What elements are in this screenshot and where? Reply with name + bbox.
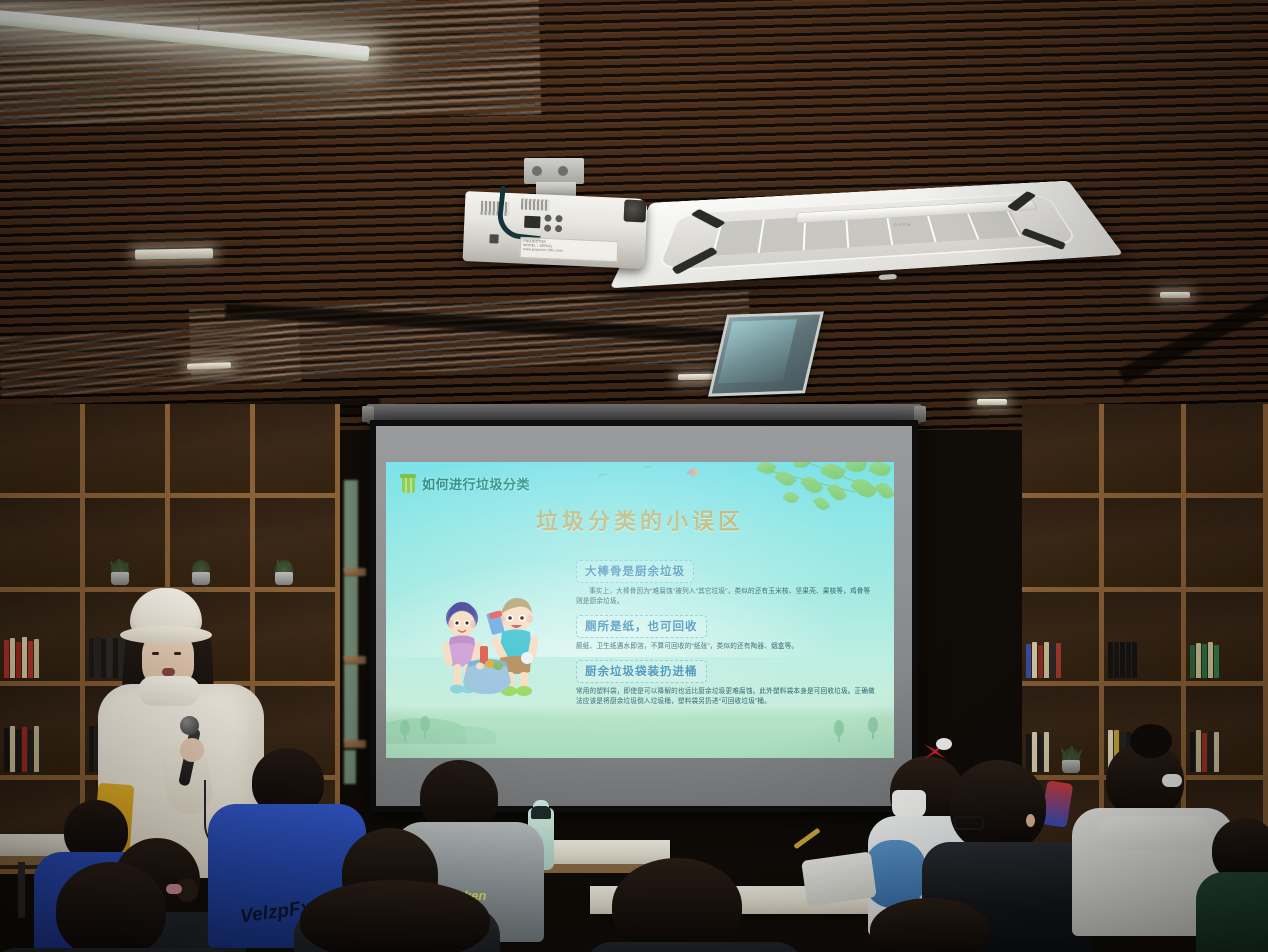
bottle-cap bbox=[531, 806, 551, 819]
leaf bbox=[868, 462, 892, 480]
book bbox=[1196, 643, 1201, 678]
jacket bbox=[584, 942, 804, 952]
projector-button bbox=[489, 234, 498, 243]
potted-plant bbox=[190, 559, 212, 585]
plant-pot bbox=[275, 572, 293, 585]
shelf-cell bbox=[1186, 404, 1268, 498]
projector-light-spill bbox=[344, 480, 358, 572]
jacket bbox=[1196, 872, 1268, 952]
block-body: 常用的塑料袋，即使是可以降解的也远比厨余垃圾更难腐蚀。此外塑料袋本身是可回收垃圾… bbox=[576, 687, 876, 707]
book bbox=[1032, 642, 1037, 678]
leaf bbox=[793, 462, 811, 469]
block-body: 厕纸、卫生纸遇水即溶，不算可回收的“纸张”，类似的还有陶器、烟盒等。 bbox=[576, 642, 876, 652]
eye bbox=[174, 652, 181, 655]
notebook[interactable] bbox=[801, 851, 877, 906]
glasses bbox=[954, 816, 984, 830]
projector-label: PROJECTOR MODEL / SERIAL www.projector-i… bbox=[520, 237, 619, 262]
hand bbox=[180, 738, 204, 762]
book bbox=[22, 727, 27, 772]
leaf bbox=[820, 462, 847, 483]
tree-trunk bbox=[404, 734, 406, 742]
projector-ceiling-mount bbox=[524, 158, 584, 184]
book bbox=[1044, 642, 1049, 678]
tree bbox=[834, 720, 844, 742]
book bbox=[10, 726, 15, 772]
plant-pot bbox=[111, 572, 129, 585]
leaf bbox=[800, 473, 824, 497]
book bbox=[1190, 732, 1195, 772]
hat-brim bbox=[120, 626, 212, 644]
slide-block: 大棒骨是厨余垃圾 事实上，大棒骨因为“难腐蚀”被列入“其它垃圾”，类似的还有玉米… bbox=[576, 560, 876, 607]
plant-pot bbox=[1062, 760, 1080, 773]
book bbox=[22, 637, 27, 678]
shelf-cell bbox=[0, 498, 85, 592]
projector-light-spill bbox=[344, 576, 358, 660]
coat-collar bbox=[138, 676, 200, 706]
book bbox=[1026, 734, 1031, 772]
presentation-slide: 如何进行垃圾分类 垃圾分类的小误区 bbox=[386, 462, 894, 758]
potted-plant bbox=[109, 559, 131, 585]
book bbox=[1202, 644, 1207, 678]
book bbox=[1208, 731, 1213, 772]
book bbox=[1038, 734, 1043, 772]
slide-footer-scenery bbox=[386, 706, 894, 758]
shelf-cell bbox=[1186, 592, 1268, 686]
book bbox=[34, 726, 39, 772]
tree bbox=[400, 720, 410, 742]
shelf-cell bbox=[170, 498, 255, 592]
slide-title: 垃圾分类的小误区 bbox=[386, 504, 894, 536]
shelf-cell bbox=[1186, 686, 1268, 780]
projector-light-spill bbox=[344, 664, 358, 742]
book bbox=[1196, 730, 1201, 772]
book bbox=[1202, 733, 1207, 772]
leaf bbox=[774, 467, 797, 489]
hair-clip bbox=[1162, 774, 1182, 787]
book bbox=[1044, 732, 1049, 772]
wall-shelf-ledge bbox=[344, 568, 366, 576]
shelf-cell bbox=[0, 404, 85, 498]
shelf-cell bbox=[0, 686, 85, 780]
wall-shelf-ledge bbox=[344, 740, 366, 748]
book-row bbox=[1108, 642, 1137, 678]
book bbox=[1132, 642, 1137, 678]
wall-shelf-ledge bbox=[344, 656, 366, 664]
book bbox=[1056, 643, 1061, 678]
classroom-photo: GREE PROJECTOR MODEL / SERIAL www.projec… bbox=[0, 0, 1268, 952]
tree-trunk bbox=[872, 731, 874, 739]
projector-light-spill bbox=[344, 750, 356, 784]
potted-plant bbox=[273, 559, 295, 585]
shelf-cell bbox=[1022, 498, 1104, 592]
slide-block: 厨余垃圾袋装扔进桶 常用的塑料袋，即使是可以降解的也远比厨余垃圾更难腐蚀。此外塑… bbox=[576, 660, 876, 707]
recessed-downlight bbox=[678, 374, 714, 381]
shelf-cell bbox=[1104, 592, 1186, 686]
hair-tie bbox=[166, 884, 182, 894]
projector-knob bbox=[544, 225, 551, 232]
shelf-cell bbox=[1022, 404, 1104, 498]
coat bbox=[0, 948, 238, 952]
recessed-downlight bbox=[135, 248, 213, 259]
book bbox=[1208, 642, 1213, 678]
face-mask bbox=[892, 790, 926, 818]
block-heading: 厕所是纸，也可回收 bbox=[576, 615, 707, 638]
hill bbox=[426, 726, 496, 744]
projector-knob bbox=[544, 215, 551, 222]
microphone-head bbox=[180, 716, 199, 735]
projector-knob bbox=[555, 215, 562, 222]
shelf-cell bbox=[255, 404, 340, 498]
block-heading: 大棒骨是厨余垃圾 bbox=[576, 560, 694, 583]
ceiling-skylight-panel bbox=[708, 311, 824, 396]
book bbox=[1214, 732, 1219, 772]
leaf bbox=[844, 462, 867, 475]
potted-plant bbox=[1060, 747, 1082, 773]
jacket-hood bbox=[1098, 816, 1210, 850]
book bbox=[10, 638, 15, 678]
leaf bbox=[756, 462, 776, 477]
bin-lid bbox=[400, 474, 416, 478]
book bbox=[1214, 645, 1219, 678]
book bbox=[1190, 645, 1195, 678]
leaf bbox=[850, 474, 879, 502]
book-row bbox=[1026, 732, 1049, 772]
projector-lens bbox=[624, 200, 647, 223]
plant-pot bbox=[192, 572, 210, 585]
eye bbox=[152, 652, 159, 655]
tree bbox=[868, 717, 878, 739]
head bbox=[56, 862, 166, 952]
slide-illustration bbox=[432, 588, 552, 706]
shelf-cell bbox=[0, 592, 85, 686]
shelf-cell bbox=[1186, 498, 1268, 592]
slide-header: 如何进行垃圾分类 bbox=[400, 474, 530, 493]
book bbox=[1120, 642, 1125, 678]
book bbox=[4, 640, 9, 678]
shelf-cell bbox=[85, 404, 170, 498]
slide-block: 厕所是纸，也可回收 厕纸、卫生纸遇水即溶，不算可回收的“纸张”，类似的还有陶器、… bbox=[576, 615, 876, 652]
head bbox=[612, 858, 742, 952]
kids-recycling-illustration bbox=[432, 588, 552, 706]
block-body: 事实上，大棒骨因为“难腐蚀”被列入“其它垃圾”，类似的还有玉米核、坚果壳、果核等… bbox=[576, 587, 876, 607]
tree bbox=[420, 716, 430, 738]
bird-decoration bbox=[643, 465, 652, 473]
book bbox=[34, 639, 39, 678]
book bbox=[28, 730, 33, 772]
book bbox=[1038, 645, 1043, 678]
book-row bbox=[1026, 642, 1061, 678]
book bbox=[28, 641, 33, 678]
book bbox=[1032, 732, 1037, 772]
projector-knob bbox=[555, 225, 562, 232]
book-row bbox=[4, 726, 39, 772]
projection-screen: 如何进行垃圾分类 垃圾分类的小误区 bbox=[370, 420, 918, 812]
head bbox=[950, 760, 1046, 852]
bin-body bbox=[402, 478, 415, 493]
book bbox=[1108, 642, 1113, 678]
shelf-cell bbox=[255, 592, 340, 686]
recessed-downlight bbox=[1160, 292, 1190, 298]
kite-decoration bbox=[686, 468, 700, 477]
ear bbox=[1026, 814, 1035, 827]
block-heading: 厨余垃圾袋装扔进桶 bbox=[576, 660, 707, 683]
shelf-cell bbox=[1022, 686, 1104, 780]
book bbox=[1126, 642, 1131, 678]
shelf-cell bbox=[255, 498, 340, 592]
shelf-cell bbox=[170, 404, 255, 498]
shelf-cell bbox=[1022, 592, 1104, 686]
book bbox=[1050, 644, 1055, 678]
book bbox=[16, 729, 21, 772]
mouth bbox=[162, 668, 175, 676]
desk-leg bbox=[18, 862, 25, 918]
bird-decoration bbox=[597, 473, 608, 481]
hair-bun bbox=[1130, 724, 1172, 758]
book-row bbox=[1190, 642, 1219, 678]
trash-bin-icon bbox=[400, 474, 416, 493]
leaf bbox=[875, 479, 894, 501]
tree-trunk bbox=[424, 730, 426, 738]
hair-clip bbox=[936, 738, 952, 750]
shelf-cell bbox=[1104, 404, 1186, 498]
book bbox=[1026, 644, 1031, 678]
book-row bbox=[1190, 730, 1219, 772]
head bbox=[300, 880, 490, 952]
book bbox=[1114, 642, 1119, 678]
book bbox=[4, 728, 9, 772]
book-row bbox=[4, 637, 39, 678]
book bbox=[16, 642, 21, 678]
shelf-cell bbox=[1104, 498, 1186, 592]
tree-trunk bbox=[838, 734, 840, 742]
slide-content: 大棒骨是厨余垃圾 事实上，大棒骨因为“难腐蚀”被列入“其它垃圾”，类似的还有玉米… bbox=[576, 560, 876, 715]
slide-header-text: 如何进行垃圾分类 bbox=[422, 474, 530, 493]
shelf-cell bbox=[85, 498, 170, 592]
